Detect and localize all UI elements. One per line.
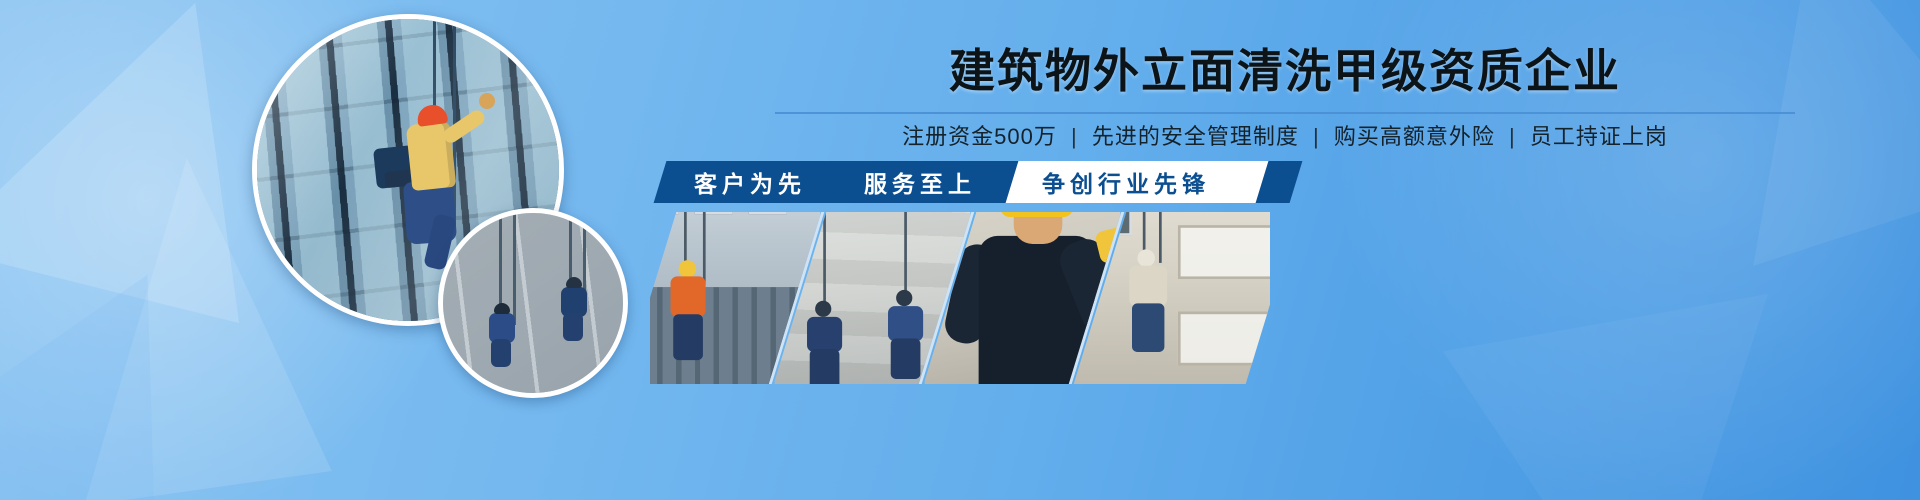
helmet-yellow-large: [1000, 212, 1073, 217]
small-worker-1-legs: [491, 339, 511, 367]
balcony-2: [1178, 312, 1270, 366]
worker-head-c: [1137, 249, 1155, 267]
worker-legs-b: [891, 339, 921, 380]
small-rope-4: [583, 213, 586, 297]
rope-2: [703, 212, 706, 285]
subtitle-item-1: 注册资金500万: [902, 124, 1057, 149]
subtitle-separator-3: |: [1509, 124, 1516, 149]
worker-torso-b: [888, 306, 923, 341]
promo-banner: 建筑物外立面清洗甲级资质企业 注册资金500万 | 先进的安全管理制度 | 购买…: [0, 0, 1920, 500]
legs: [673, 314, 703, 360]
worker-hand: [479, 93, 495, 109]
wall-rope-work-image: [443, 213, 623, 393]
small-worker-1-head: [494, 303, 510, 314]
worker-torso-a: [807, 317, 842, 352]
building-wall-texture: [438, 208, 628, 398]
rope-4: [904, 212, 907, 295]
slogan-text-3: 争创行业先锋: [1042, 161, 1210, 203]
balcony-1: [1178, 225, 1270, 279]
small-rope-2: [513, 213, 516, 325]
rope-3: [823, 212, 826, 306]
subtitle-separator-2: |: [1313, 124, 1320, 149]
helmet-yellow: [679, 260, 697, 278]
subtitle-item-3: 购买高额意外险: [1334, 124, 1495, 149]
rope-6: [1159, 212, 1162, 263]
subtitle-line: 注册资金500万 | 先进的安全管理制度 | 购买高额意外险 | 员工持证上岗: [650, 122, 1920, 152]
worker-torso-c: [1129, 266, 1167, 307]
slogan-bar: 客户为先 服务至上 争创行业先锋: [650, 161, 1920, 203]
vest-orange: [671, 276, 706, 317]
slogan-text-1: 客户为先: [694, 161, 806, 203]
small-worker-2-legs: [563, 313, 583, 341]
worker-legs-c: [1132, 303, 1164, 352]
copy-block: 建筑物外立面清洗甲级资质企业 注册资金500万 | 先进的安全管理制度 | 购买…: [650, 0, 1920, 215]
photo-circle-small: [438, 208, 628, 398]
headline-divider: [775, 112, 1795, 114]
subtitle-item-2: 先进的安全管理制度: [1092, 124, 1299, 149]
worker-head-a: [815, 301, 831, 317]
small-rope-1: [499, 213, 502, 317]
window-2: [695, 212, 733, 214]
photo-strip: [650, 212, 1270, 384]
window-3: [749, 212, 787, 214]
worker-legs-a: [810, 349, 840, 384]
window-1: [650, 212, 679, 214]
headline-title: 建筑物外立面清洗甲级资质企业: [650, 48, 1920, 94]
worker-head-b: [896, 290, 912, 306]
rope-5: [1143, 212, 1146, 255]
subtitle-item-4: 员工持证上岗: [1530, 124, 1668, 149]
subtitle-separator-1: |: [1071, 124, 1078, 149]
slogan-text-2: 服务至上: [864, 161, 976, 203]
small-worker-2-head: [566, 277, 582, 288]
